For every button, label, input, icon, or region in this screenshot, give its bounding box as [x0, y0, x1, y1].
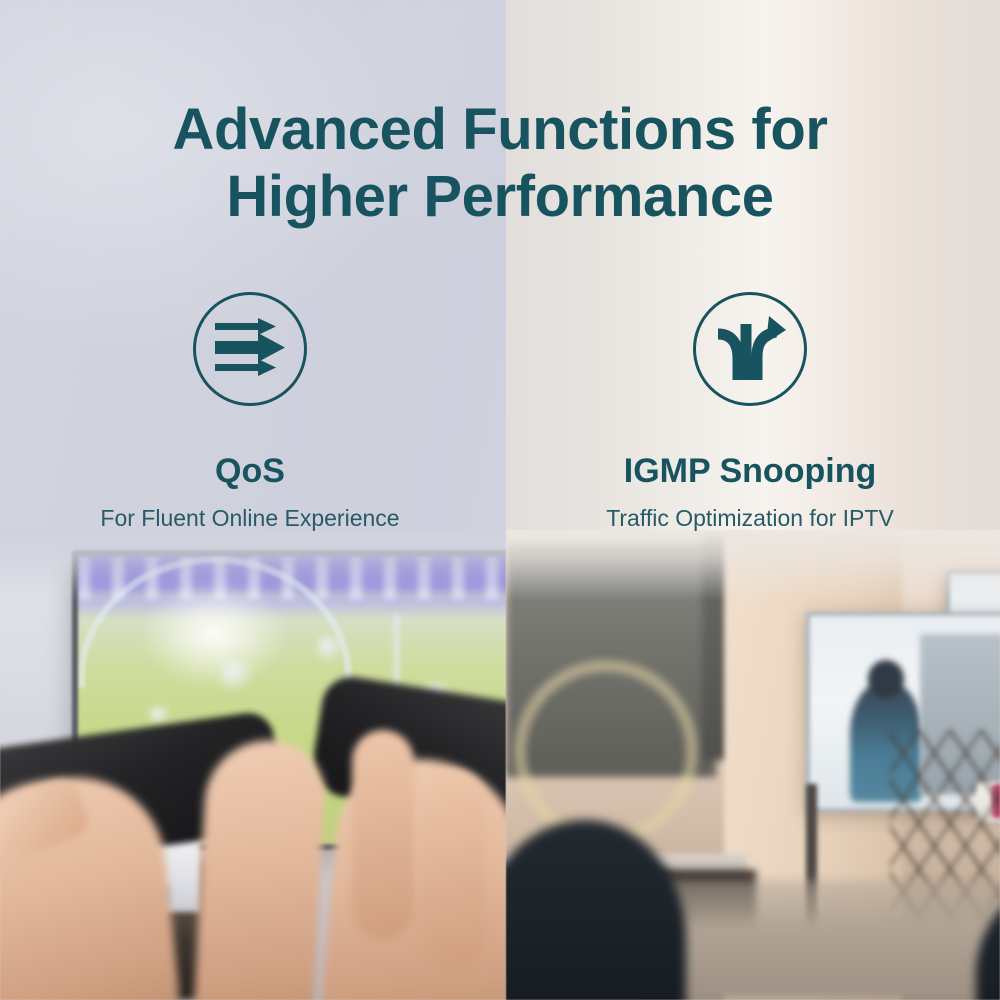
feature-igmp-title: IGMP Snooping	[624, 452, 876, 491]
feature-igmp-snooping: IGMP Snooping Traffic Optimization for I…	[500, 292, 1000, 532]
headline-line-1: Advanced Functions for	[172, 97, 827, 162]
feature-qos-subtitle: For Fluent Online Experience	[100, 505, 399, 532]
headline-line-2: Higher Performance	[0, 163, 1000, 230]
feature-igmp-subtitle: Traffic Optimization for IPTV	[606, 505, 894, 532]
fork-split-arrows-icon	[712, 312, 788, 387]
feature-qos: QoS For Fluent Online Experience	[0, 292, 500, 532]
three-arrows-icon	[214, 316, 286, 383]
qos-icon-circle	[193, 292, 307, 406]
page-title: Advanced Functions for Higher Performanc…	[0, 96, 1000, 231]
promo-banner: Advanced Functions for Higher Performanc…	[0, 0, 1000, 1000]
igmp-icon-circle	[693, 292, 807, 406]
feature-list: QoS For Fluent Online Experience	[0, 292, 1000, 532]
overlay-content: Advanced Functions for Higher Performanc…	[0, 0, 1000, 1000]
feature-qos-title: QoS	[215, 452, 285, 491]
